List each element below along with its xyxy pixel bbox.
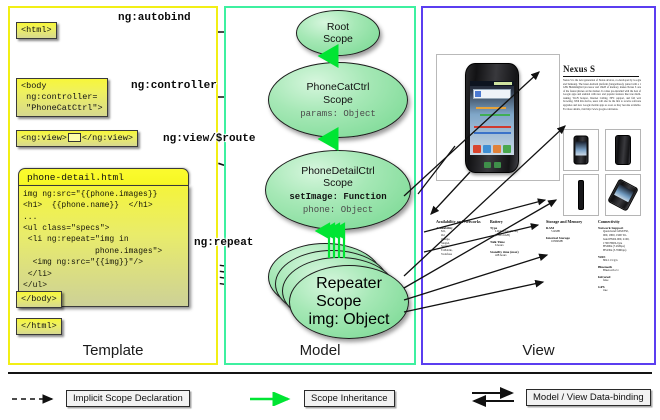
spec-value: 428 hours — [495, 254, 538, 258]
view-rendered-page: Nexus S Nexus S is the next generation o… — [430, 14, 643, 344]
legend-label-scope-inheritance: Scope Inheritance — [304, 390, 395, 407]
thumbnail-3[interactable] — [563, 174, 599, 216]
tag-body-close: </body> — [16, 291, 62, 308]
diagram-canvas: Template Model View <html> <body ng:cont… — [0, 0, 660, 420]
scope-phonecatctrl-prop-params: params: Object — [300, 109, 376, 119]
legend-item-model-view-data-binding: Model / View Data-binding — [470, 387, 651, 407]
spec-value: 512MB — [551, 230, 594, 234]
legend-item-scope-inheritance: Scope Inheritance — [248, 390, 395, 407]
scope-phonecatctrl-name: PhoneCatCtrlScope — [306, 81, 369, 105]
tag-ngview-close: </ng:view> — [82, 133, 133, 143]
spec-value: true — [603, 289, 642, 293]
scope-phonecatctrl: PhoneCatCtrlScope params: Object — [268, 62, 408, 138]
column-label-view: View — [423, 342, 654, 359]
scope-repeater-name: RepeaterScope — [316, 275, 382, 311]
spec-value: Bluetooth 2.1 — [603, 269, 642, 273]
column-label-template: Template — [10, 342, 216, 359]
product-description: Nexus S is the next generation of Nexus … — [563, 79, 641, 111]
thumbnail-1-phone-icon — [574, 136, 589, 165]
scope-repeater-front: RepeaterScope img: Object — [289, 265, 409, 339]
app-dock — [472, 141, 512, 153]
wallpaper-line-2 — [480, 114, 510, 116]
thumbnail-2-phone-icon — [615, 135, 631, 165]
dock-app-icon-2 — [483, 145, 491, 153]
status-bar — [470, 81, 514, 86]
spec-value: 802.11 b/g/n — [603, 259, 642, 263]
thumbnail-2[interactable] — [605, 129, 641, 171]
legend-divider — [8, 372, 652, 374]
phone-button-home-icon — [494, 162, 501, 168]
column-label-model: Model — [226, 342, 414, 359]
spec-value: (1500 mAH) — [495, 234, 538, 238]
legend-double-arrow-icon — [470, 387, 520, 407]
phone-button-back-icon — [484, 162, 491, 168]
spec-value: Vodafone — [441, 253, 482, 257]
spec-value: 6 hours — [495, 244, 538, 248]
phone-screen — [470, 81, 514, 155]
edge-label-ngview-route: ng:view/$route — [163, 133, 255, 145]
phone-button-row — [471, 161, 513, 169]
spec-value: 16384MB — [551, 240, 594, 244]
legend: Implicit Scope Declaration Scope Inherit… — [0, 372, 660, 420]
phone-hero-image-frame — [436, 54, 560, 181]
thumbnail-4-phone-icon — [607, 178, 639, 211]
scope-root-name: RootScope — [323, 21, 353, 45]
product-title: Nexus S — [563, 64, 595, 74]
search-box-icon — [473, 89, 511, 99]
legend-dashed-arrow-icon — [10, 392, 60, 406]
edge-label-controller: ng:controller — [131, 80, 217, 92]
spec-header: Storage and Memory — [546, 219, 594, 224]
wallpaper-line-4 — [474, 132, 511, 134]
scope-phonedetailctrl-prop-setimage: setImage: Function — [289, 192, 386, 202]
tag-ngview-open: <ng:view> — [21, 133, 67, 143]
template-note-phone-detail: phone-detail.html img ng:src="{{phone.im… — [18, 168, 189, 307]
thumbnail-4[interactable] — [605, 174, 641, 216]
scope-phonedetailctrl-name: PhoneDetailCtrlScope — [301, 165, 375, 189]
note-code: img ng:src="{{phone.images}} <h1> {{phon… — [18, 185, 189, 307]
spec-column-storage: Storage and MemoryRAM512MBInternal Stora… — [546, 219, 594, 244]
scope-phonedetailctrl: PhoneDetailCtrlScope setImage: Function … — [265, 150, 411, 230]
spec-column-availability: Availability and NetworksAvailabilityM1,… — [436, 219, 482, 257]
edge-label-autobind: ng:autobind — [118, 12, 191, 24]
legend-label-implicit-scope-declaration: Implicit Scope Declaration — [66, 390, 190, 407]
ngview-slot-icon — [68, 133, 81, 142]
spec-column-connectivity: ConnectivityNetwork SupportQuad-band GSM… — [598, 219, 642, 293]
spec-value: HSUPA (5.76Mbps) — [603, 249, 642, 253]
thumbnail-3-phone-icon — [578, 180, 584, 210]
wallpaper-line-1 — [476, 107, 506, 109]
scope-phonedetailctrl-prop-phone: phone: Object — [303, 205, 373, 215]
spec-table: Availability and NetworksAvailabilityM1,… — [436, 219, 639, 289]
edge-label-repeat: ng:repeat — [194, 237, 253, 249]
spec-header: Connectivity — [598, 219, 642, 224]
tag-html-open: <html> — [16, 22, 57, 39]
spec-column-battery: BatteryTypeLithium Ion (Li-on)(1500 mAH)… — [490, 219, 538, 258]
tag-body-open: <body ng:controller= "PhoneCatCtrl"> — [16, 78, 108, 117]
legend-item-implicit-scope-declaration: Implicit Scope Declaration — [10, 390, 190, 407]
dock-app-icon-4 — [503, 145, 511, 153]
dock-app-icon-1 — [473, 145, 481, 153]
spec-header: Battery — [490, 219, 538, 224]
scope-repeater-prop-img: img: Object — [309, 311, 390, 329]
wallpaper-line-3 — [474, 126, 511, 128]
legend-label-model-view-data-binding: Model / View Data-binding — [526, 389, 651, 406]
scope-repeater-stack: RepeaterScope img: Object — [268, 243, 408, 343]
product-title-rule — [563, 76, 639, 77]
tag-html-close: </html> — [16, 318, 62, 335]
phone-device-image — [465, 63, 519, 173]
spec-header: Availability and Networks — [436, 219, 482, 224]
scope-root: RootScope — [296, 10, 380, 56]
note-title: phone-detail.html — [18, 168, 189, 185]
spec-value: false — [603, 279, 642, 283]
dock-app-icon-3 — [493, 145, 501, 153]
legend-green-arrow-icon — [248, 392, 298, 406]
tag-ngview: <ng:view></ng:view> — [16, 130, 138, 147]
thumbnail-1[interactable] — [563, 129, 599, 171]
